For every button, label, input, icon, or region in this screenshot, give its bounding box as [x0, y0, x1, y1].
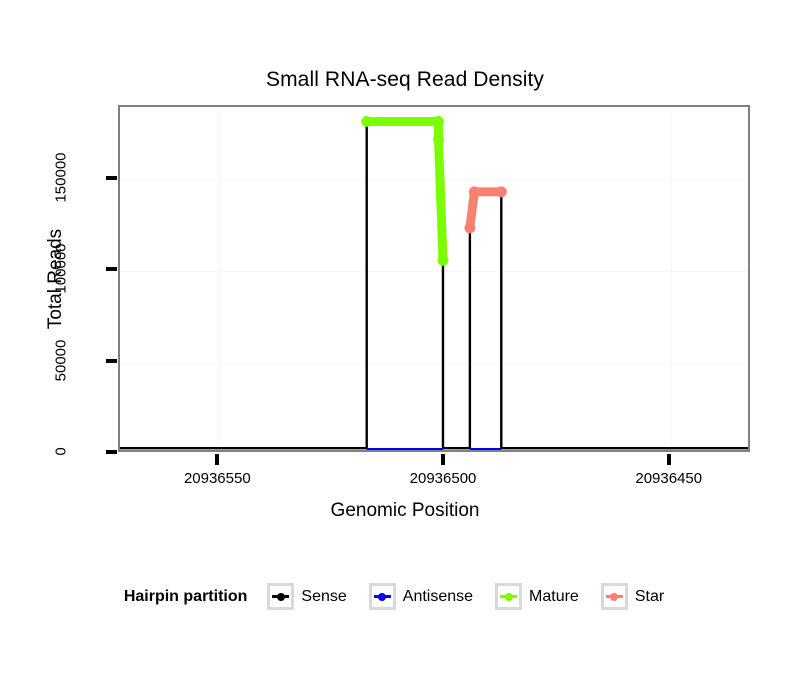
y-tick-mark	[106, 359, 117, 363]
chart-title: Small RNA-seq Read Density	[0, 68, 810, 92]
legend-key-dot	[610, 593, 618, 601]
legend-item-antisense[interactable]: Antisense	[369, 583, 491, 610]
legend-item-mature[interactable]: Mature	[495, 583, 597, 610]
legend-key-icon	[601, 583, 628, 610]
data-point-star	[496, 186, 507, 197]
data-point-mature	[438, 255, 449, 266]
series-line-sense	[120, 121, 748, 448]
x-tick-mark	[215, 454, 219, 465]
legend-item-sense[interactable]: Sense	[267, 583, 364, 610]
data-point-mature	[433, 116, 444, 127]
data-series-layer	[120, 107, 748, 450]
plot-panel	[118, 105, 750, 452]
x-tick-label: 20936550	[157, 470, 277, 487]
legend-key-dot	[277, 593, 285, 601]
legend-key-icon	[369, 583, 396, 610]
x-tick-label: 20936450	[609, 470, 729, 487]
y-tick-label: 150000	[53, 133, 70, 223]
legend-label: Sense	[301, 588, 346, 606]
legend-title: Hairpin partition	[124, 588, 248, 606]
legend-key-icon	[495, 583, 522, 610]
legend-key-dot	[505, 593, 513, 601]
y-tick-label: 100000	[53, 224, 70, 314]
x-axis-title: Genomic Position	[0, 500, 810, 522]
chart-container: Small RNA-seq Read Density Total Reads G…	[0, 0, 810, 690]
legend-item-star[interactable]: Star	[601, 583, 682, 610]
legend: Hairpin partition SenseAntisenseMatureSt…	[0, 583, 810, 610]
y-tick-mark	[106, 450, 117, 454]
data-point-mature	[433, 134, 444, 145]
y-tick-label: 50000	[53, 315, 70, 405]
y-tick-label: 0	[53, 407, 70, 497]
x-tick-mark	[667, 454, 671, 465]
legend-label: Mature	[529, 588, 579, 606]
data-point-star	[464, 223, 475, 234]
x-tick-label: 20936500	[383, 470, 503, 487]
legend-key-icon	[267, 583, 294, 610]
data-point-star	[469, 186, 480, 197]
data-point-mature	[361, 116, 372, 127]
legend-key-dot	[378, 593, 386, 601]
legend-label: Star	[635, 588, 664, 606]
legend-label: Antisense	[403, 588, 473, 606]
legend-items: SenseAntisenseMatureStar	[267, 583, 686, 610]
y-tick-mark	[106, 176, 117, 180]
series-line-mature	[367, 121, 443, 260]
y-tick-mark	[106, 267, 117, 271]
x-tick-mark	[441, 454, 445, 465]
